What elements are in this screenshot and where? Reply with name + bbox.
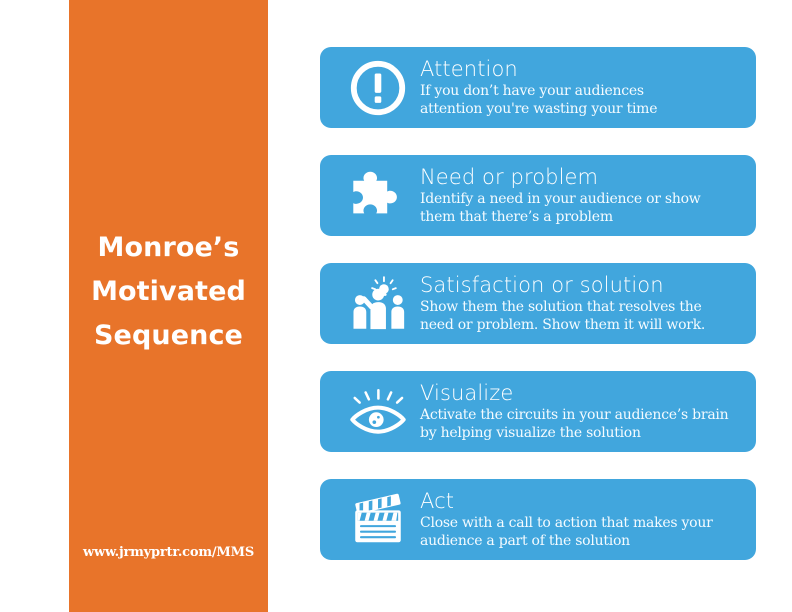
step-text-satisfaction-or-solution: Satisfaction or solution Show them the s… bbox=[415, 274, 756, 334]
step-text-attention: Attention If you don’t have your audienc… bbox=[415, 58, 756, 118]
puzzle-piece-icon bbox=[341, 163, 415, 229]
brand-panel: Monroe’s Motivated Sequence www.jrmyprtr… bbox=[69, 0, 268, 612]
page-title-line-3: Sequence bbox=[69, 314, 268, 358]
infographic-canvas: Monroe’s Motivated Sequence www.jrmyprtr… bbox=[0, 0, 792, 612]
step-card-attention[interactable]: Attention If you don’t have your audienc… bbox=[320, 47, 756, 128]
step-card-satisfaction-or-solution[interactable]: Satisfaction or solution Show them the s… bbox=[320, 263, 756, 344]
page-title: Monroe’s Motivated Sequence bbox=[69, 226, 268, 358]
step-heading: Visualize bbox=[420, 382, 746, 405]
exclamation-circle-icon bbox=[341, 55, 415, 121]
step-description: Close with a call to action that makes y… bbox=[420, 514, 746, 550]
step-description: If you don’t have your audiences attenti… bbox=[420, 82, 746, 118]
page-title-line-2: Motivated bbox=[69, 270, 268, 314]
step-heading: Satisfaction or solution bbox=[420, 274, 746, 297]
step-heading: Act bbox=[420, 490, 746, 513]
step-card-visualize[interactable]: Visualize Activate the circuits in your … bbox=[320, 371, 756, 452]
clapperboard-icon bbox=[341, 487, 415, 553]
step-text-act: Act Close with a call to action that mak… bbox=[415, 490, 756, 550]
step-description: Identify a need in your audience or show… bbox=[420, 190, 746, 226]
step-description: Activate the circuits in your audience’s… bbox=[420, 406, 746, 442]
people-idea-icon bbox=[341, 271, 415, 337]
brand-url: www.jrmyprtr.com/MMS bbox=[69, 545, 268, 560]
step-card-need-or-problem[interactable]: Need or problem Identify a need in your … bbox=[320, 155, 756, 236]
step-description: Show them the solution that resolves the… bbox=[420, 298, 746, 334]
step-list: Attention If you don’t have your audienc… bbox=[320, 47, 756, 560]
step-heading: Attention bbox=[420, 58, 746, 81]
page-title-line-1: Monroe’s bbox=[69, 226, 268, 270]
step-heading: Need or problem bbox=[420, 166, 746, 189]
eye-icon bbox=[341, 379, 415, 445]
step-text-need-or-problem: Need or problem Identify a need in your … bbox=[415, 166, 756, 226]
step-card-act[interactable]: Act Close with a call to action that mak… bbox=[320, 479, 756, 560]
step-text-visualize: Visualize Activate the circuits in your … bbox=[415, 382, 756, 442]
